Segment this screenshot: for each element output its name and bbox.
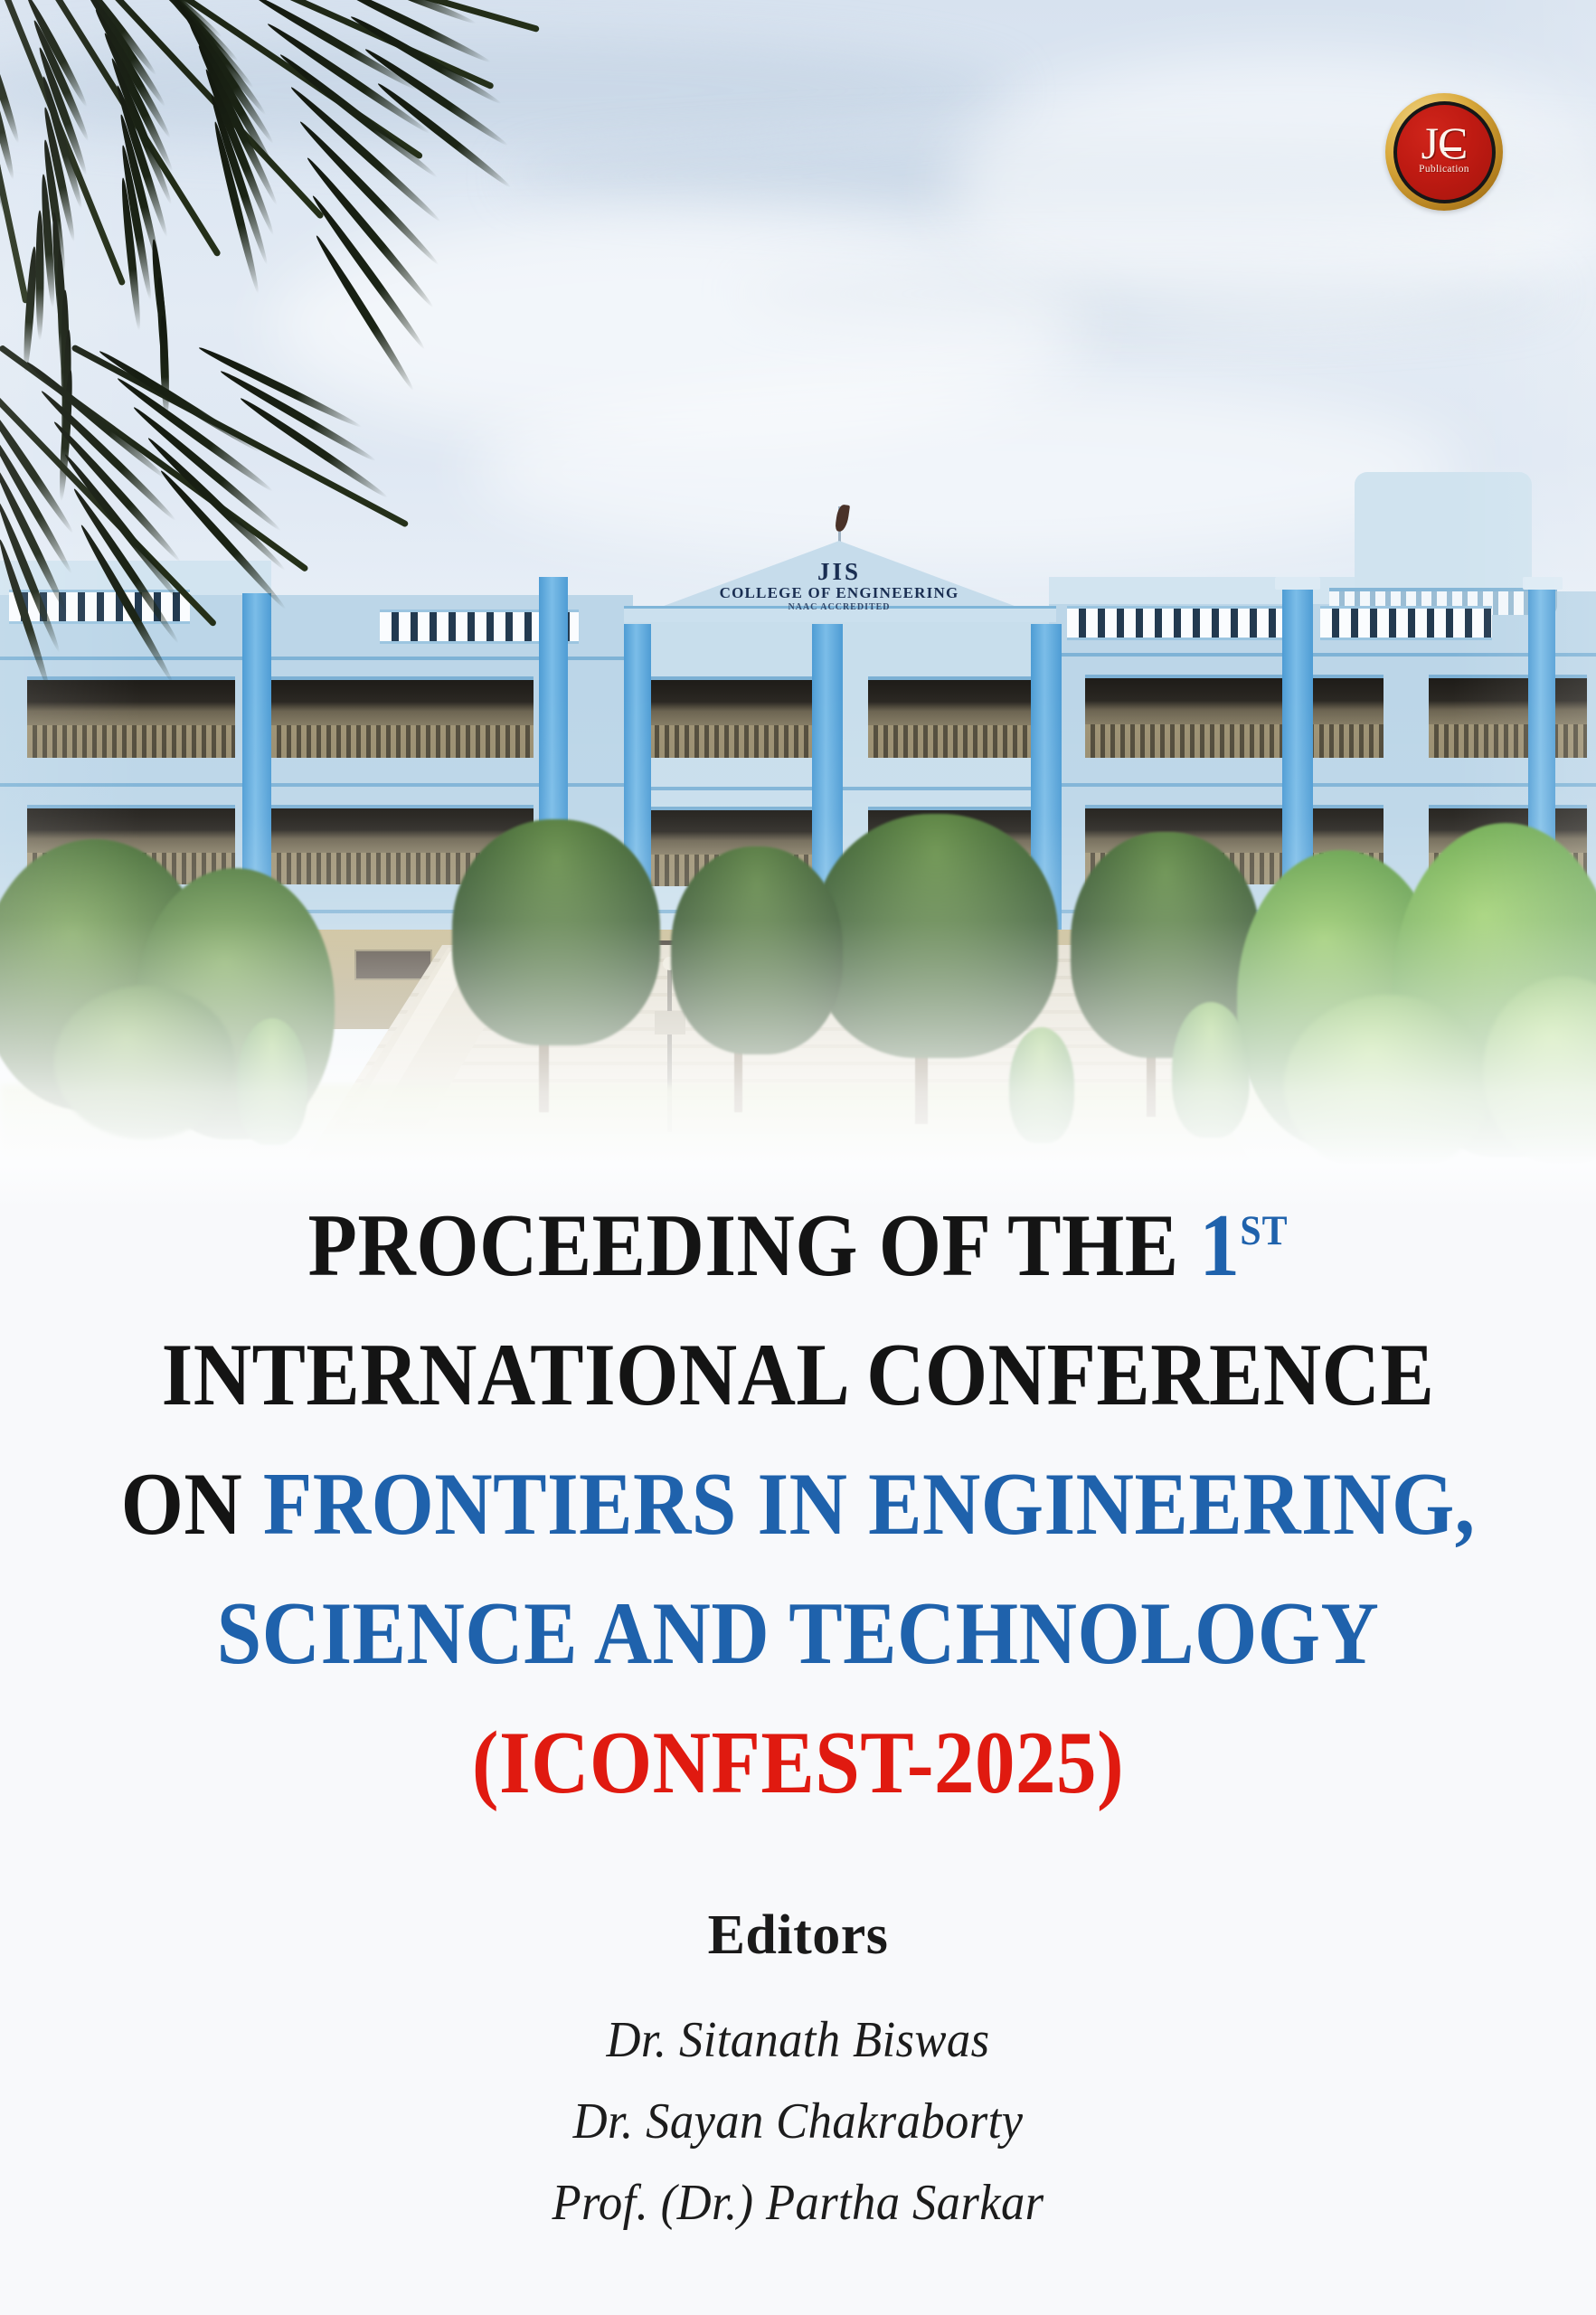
balcony-opening bbox=[649, 676, 812, 758]
publisher-logo: JC Publication bbox=[1385, 93, 1503, 211]
logo-monogram: JC bbox=[1421, 124, 1468, 163]
foreground-palm-silhouette-lower bbox=[0, 344, 543, 723]
parapet-screen bbox=[1067, 606, 1298, 640]
title-line-2: INTERNATIONAL CONFERENCE bbox=[80, 1330, 1516, 1420]
palm-tree bbox=[814, 814, 1058, 1058]
balcony-opening bbox=[868, 676, 1031, 758]
facade-band bbox=[1049, 653, 1596, 657]
building-signage: JIS COLLEGE OF ENGINEERING NAAC ACCREDIT… bbox=[649, 559, 1029, 613]
conifer bbox=[1172, 1002, 1250, 1138]
title-line-3-black: ON bbox=[121, 1455, 263, 1554]
title-line-1: PROCEEDING OF THE 1ST bbox=[80, 1201, 1516, 1290]
bush bbox=[54, 986, 235, 1139]
facade-band bbox=[0, 783, 633, 787]
cover-text-block: PROCEEDING OF THE 1ST INTERNATIONAL CONF… bbox=[0, 1201, 1596, 2232]
title-ordinal-suffix: ST bbox=[1240, 1208, 1288, 1254]
signage-line-1: JIS bbox=[649, 559, 1029, 584]
title-line-1-prefix: PROCEEDING OF THE bbox=[308, 1196, 1200, 1295]
palm-tree bbox=[452, 819, 660, 1045]
balcony-opening bbox=[1429, 675, 1587, 758]
campus-photo: JIS COLLEGE OF ENGINEERING NAAC ACCREDIT… bbox=[0, 0, 1596, 1207]
signage-line-2: COLLEGE OF ENGINEERING bbox=[649, 585, 1029, 601]
editors-label: Editors bbox=[0, 1904, 1596, 1968]
title-ordinal-number: 1 bbox=[1199, 1196, 1240, 1295]
palm-tree bbox=[671, 846, 843, 1054]
window bbox=[354, 950, 432, 980]
logo-ring: JC Publication bbox=[1393, 101, 1496, 203]
book-cover: JIS COLLEGE OF ENGINEERING NAAC ACCREDIT… bbox=[0, 0, 1596, 2315]
logo-disc: JC Publication bbox=[1397, 105, 1492, 200]
parapet-screen bbox=[1320, 606, 1492, 640]
title-line-4: SCIENCE AND TECHNOLOGY bbox=[80, 1589, 1516, 1678]
bush bbox=[1284, 995, 1492, 1176]
editor-name: Dr. Sayan Chakraborty bbox=[48, 2093, 1548, 2150]
title-line-3: ON FRONTIERS IN ENGINEERING, bbox=[80, 1460, 1516, 1549]
logo-bar bbox=[1443, 147, 1461, 151]
signage-line-3: NAAC ACCREDITED bbox=[649, 603, 1029, 613]
balcony-opening bbox=[1085, 675, 1384, 758]
lamp-sign bbox=[655, 1011, 685, 1035]
column-capital bbox=[1523, 577, 1563, 590]
cloud bbox=[470, 380, 1465, 561]
conifer bbox=[1009, 1027, 1074, 1143]
title-line-5-acronym: (ICONFEST-2025) bbox=[80, 1718, 1516, 1808]
title-line-3-blue: FRONTIERS IN ENGINEERING, bbox=[263, 1455, 1476, 1554]
column-capital bbox=[1275, 577, 1320, 590]
editor-name: Dr. Sitanath Biswas bbox=[48, 2011, 1548, 2069]
editor-name: Prof. (Dr.) Partha Sarkar bbox=[48, 2174, 1548, 2232]
conifer bbox=[237, 1018, 307, 1145]
facade-band bbox=[1049, 783, 1596, 787]
